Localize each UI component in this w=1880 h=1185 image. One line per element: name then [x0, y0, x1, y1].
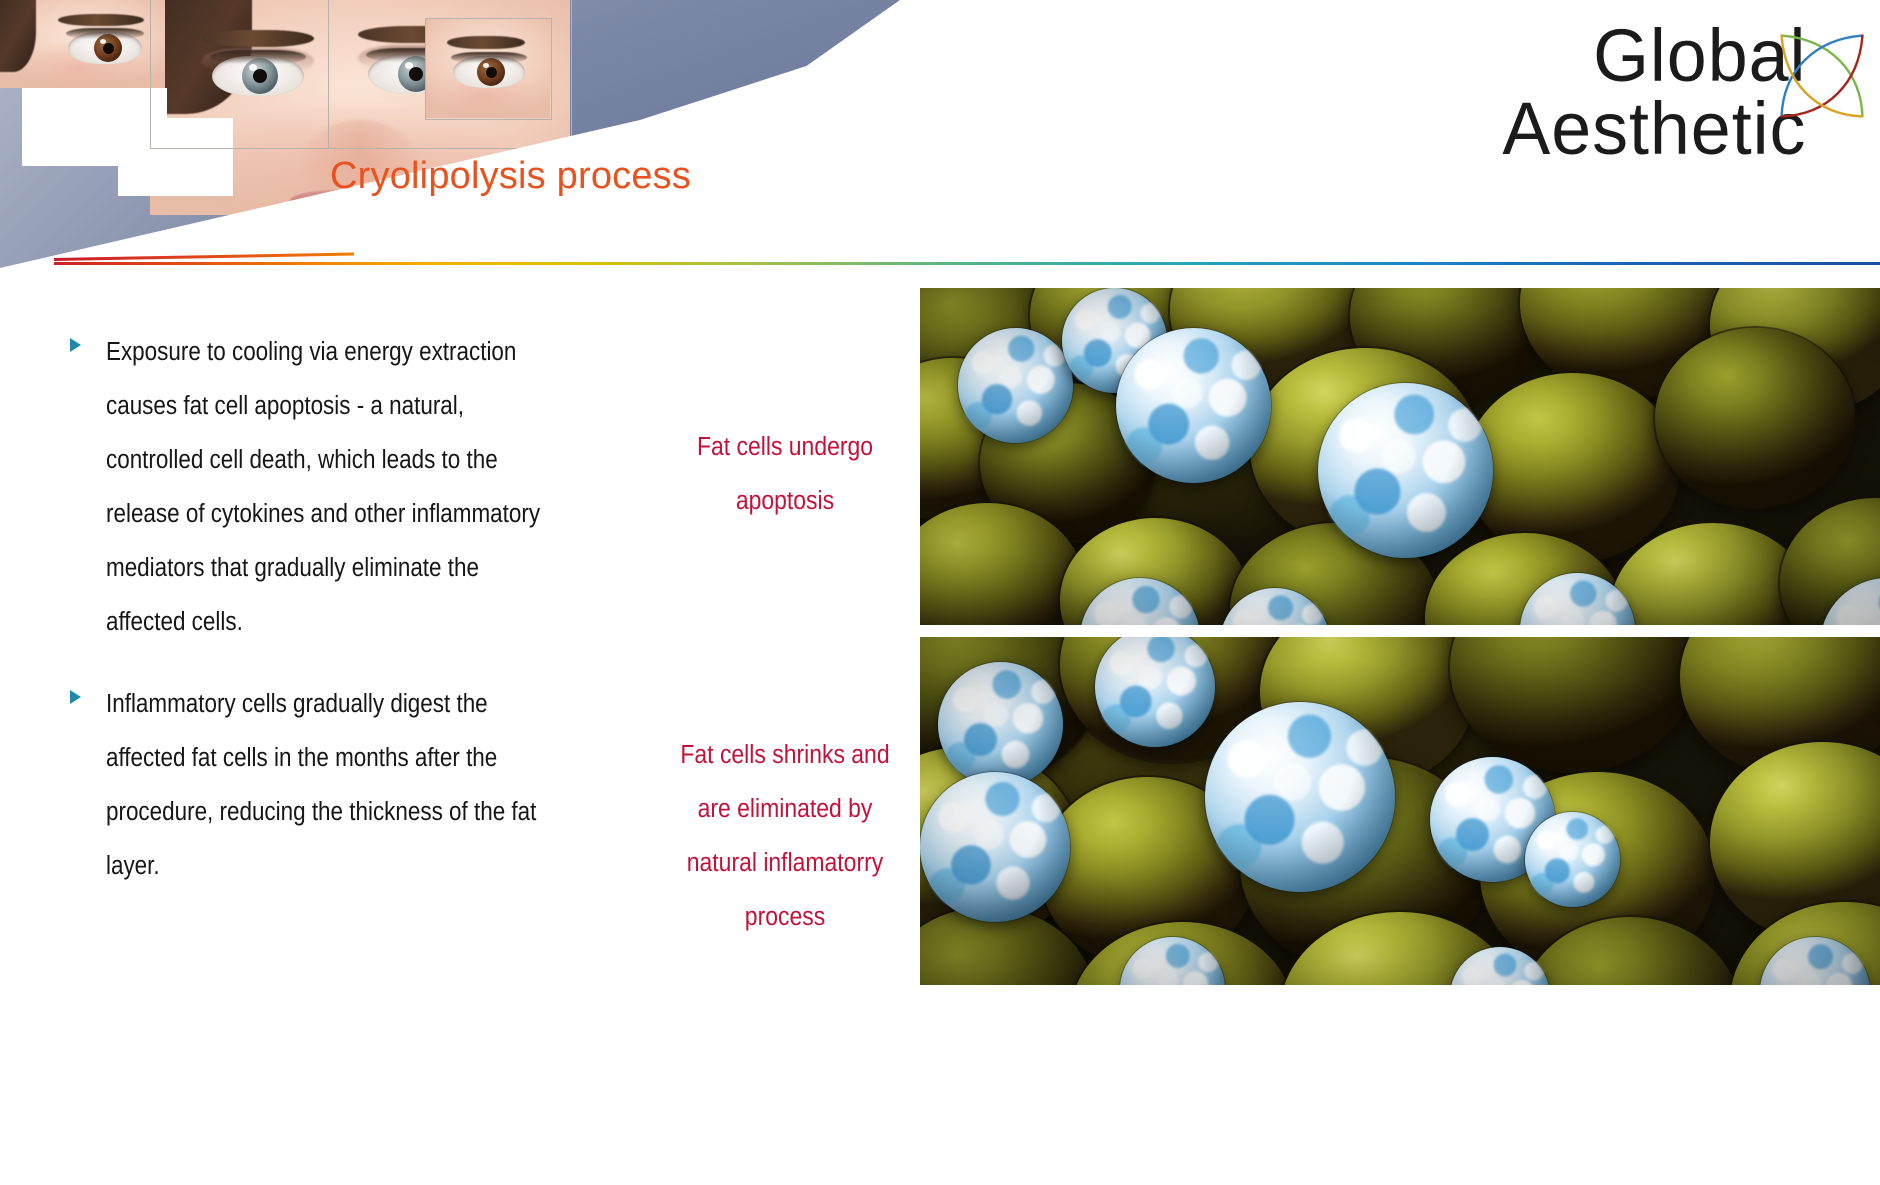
brand-logo-line2: Aesthetic [1502, 93, 1806, 166]
slide-header: Cryolipolysis process Global Aesthetic [0, 0, 1880, 268]
lens-eye-mark-icon [1776, 30, 1868, 122]
bullet-list: Exposure to cooling via energy extractio… [60, 325, 620, 921]
image-caption-elimination: Fat cells shrinks and are eliminated by … [673, 728, 898, 944]
collage-panel-edge-c [425, 18, 552, 120]
fat-cell-image-apoptosis [920, 288, 1880, 625]
bullet-text: Exposure to cooling via energy extractio… [106, 325, 558, 649]
brand-logo[interactable]: Global Aesthetic [1472, 14, 1872, 194]
collage-face-topleft [0, 0, 165, 88]
triangle-bullet-icon [60, 325, 106, 353]
bullet-text: Inflammatory cells gradually digest the … [106, 677, 558, 893]
fat-cell-image-elimination [920, 637, 1880, 985]
list-item: Exposure to cooling via energy extractio… [60, 325, 620, 649]
collage-panel-edge-b [328, 0, 330, 148]
image-caption-apoptosis: Fat cells undergo apoptosis [673, 420, 898, 528]
list-item: Inflammatory cells gradually digest the … [60, 677, 620, 893]
header-gradient-rule [54, 262, 1880, 265]
page-title: Cryolipolysis process [330, 155, 691, 198]
brand-logo-text: Global Aesthetic [1502, 20, 1806, 165]
triangle-bullet-icon [60, 677, 106, 705]
brand-logo-line1: Global [1502, 20, 1806, 93]
